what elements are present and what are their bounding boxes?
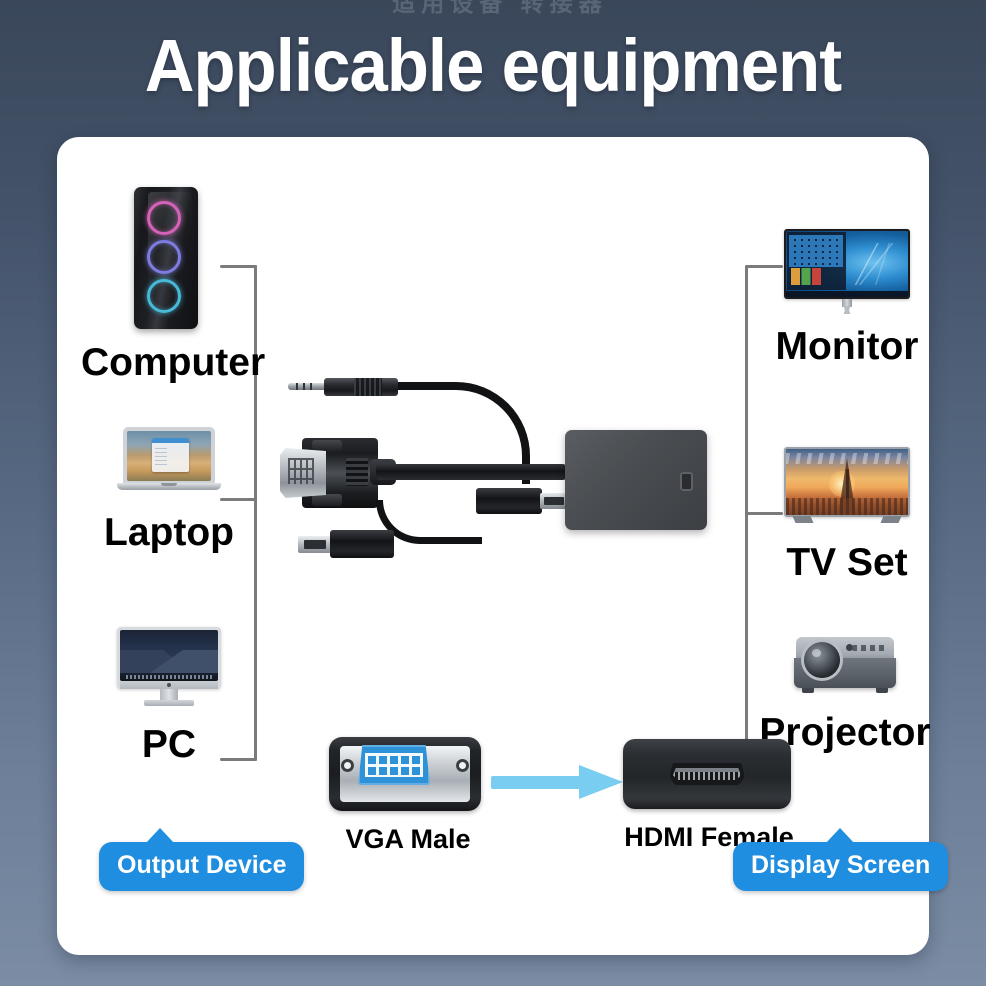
page-title: Applicable equipment bbox=[35, 20, 952, 112]
right-arrow-icon bbox=[491, 765, 623, 799]
device-tv-set[interactable]: TV Set bbox=[757, 447, 937, 585]
badge-output-device[interactable]: Output Device bbox=[99, 842, 304, 891]
device-label-monitor: Monitor bbox=[757, 325, 937, 369]
desktop-tower-icon bbox=[134, 187, 198, 329]
device-pc[interactable]: PC bbox=[89, 627, 249, 767]
computer-monitor-icon bbox=[784, 229, 910, 315]
laptop-icon bbox=[117, 427, 221, 497]
device-label-pc: PC bbox=[89, 723, 249, 767]
hdmi-female-port-icon bbox=[623, 739, 791, 809]
top-cut-text: 适用设备 转接器 bbox=[190, 0, 810, 14]
adapter-hdmi-port bbox=[680, 472, 693, 491]
top-cut-text-strip: 适用设备 转接器 bbox=[0, 0, 986, 14]
connector-label-vga-male: VGA Male bbox=[329, 824, 487, 855]
usb-a-power-plug-icon bbox=[476, 488, 572, 514]
device-laptop[interactable]: Laptop bbox=[89, 427, 249, 555]
badge-display-screen-label: Display Screen bbox=[751, 851, 930, 879]
device-label-computer: Computer bbox=[81, 341, 251, 385]
badge-output-device-label: Output Device bbox=[117, 851, 286, 879]
projector-icon bbox=[790, 633, 900, 699]
badge-display-screen[interactable]: Display Screen bbox=[733, 842, 948, 891]
device-projector[interactable]: Projector bbox=[745, 633, 945, 755]
vga-to-hdmi-adapter-assembly[interactable] bbox=[280, 372, 710, 592]
device-computer[interactable]: Computer bbox=[81, 187, 251, 385]
device-monitor[interactable]: Monitor bbox=[757, 229, 937, 369]
badge-display-screen-pill: Display Screen bbox=[733, 842, 948, 891]
connector-callout-vga-male[interactable]: VGA Male bbox=[329, 737, 487, 855]
badge-tip-up-icon bbox=[145, 828, 175, 844]
badge-tip-up-icon bbox=[825, 828, 855, 844]
television-icon bbox=[784, 447, 910, 527]
audio-jack-3-5mm-icon bbox=[288, 376, 398, 398]
adapter-body bbox=[565, 430, 707, 530]
usb-a-free-end-icon bbox=[298, 530, 394, 558]
vga-male-connector-icon bbox=[329, 737, 481, 811]
device-label-tv-set: TV Set bbox=[757, 541, 937, 585]
main-signal-cable bbox=[376, 464, 566, 480]
connector-callout-hdmi-female[interactable]: HDMI Female bbox=[623, 739, 795, 853]
badge-output-device-pill: Output Device bbox=[99, 842, 304, 891]
content-card: Computer Laptop bbox=[57, 137, 929, 955]
device-label-laptop: Laptop bbox=[89, 511, 249, 555]
infographic-stage: 适用设备 转接器 Applicable equipment bbox=[0, 0, 986, 986]
all-in-one-pc-icon bbox=[117, 627, 221, 709]
